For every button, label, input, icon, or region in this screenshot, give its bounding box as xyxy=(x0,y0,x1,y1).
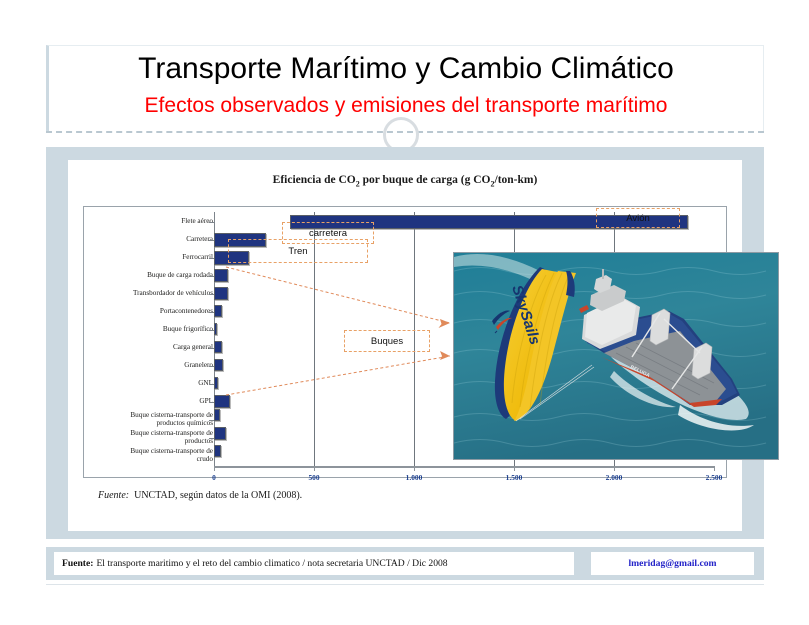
chart-source-note: Fuente: UNCTAD, según datos de la OMI (2… xyxy=(98,490,302,501)
chart-bar xyxy=(214,341,222,353)
content-panel: Eficiencia de CO2 por buque de carga (g … xyxy=(46,147,764,539)
x-tick-label: 1.500 xyxy=(506,473,523,482)
callout-buques[interactable]: Buques xyxy=(344,330,430,352)
footer-divider xyxy=(46,584,764,585)
footer-source-text: El transporte maritimo y el reto del cam… xyxy=(96,558,447,569)
callout-avion[interactable]: Avión xyxy=(596,208,680,228)
x-tick-label: 2.000 xyxy=(606,473,623,482)
chart-bar xyxy=(214,409,220,421)
footer-email[interactable]: lmeridag@gmail.com xyxy=(591,552,754,575)
chart-bar xyxy=(214,395,230,408)
x-tick-label: 500 xyxy=(308,473,319,482)
chart-bar xyxy=(214,323,217,335)
chart-bar xyxy=(214,269,228,282)
chart-source-text: UNCTAD, según datos de la OMI (2008). xyxy=(134,490,302,501)
x-tick-label: 1.000 xyxy=(406,473,423,482)
page-subtitle: Efectos observados y emisiones del trans… xyxy=(49,94,763,118)
chart-bar xyxy=(214,359,223,371)
page-title: Transporte Marítimo y Cambio Climático xyxy=(49,52,763,86)
chart-title: Eficiencia de CO2 por buque de carga (g … xyxy=(68,174,742,188)
slide: Transporte Marítimo y Cambio Climático E… xyxy=(0,0,809,625)
y-label: Buque cisterna-transporte de productos q… xyxy=(121,412,213,427)
x-tick xyxy=(714,466,715,471)
x-tick-label: 0 xyxy=(212,473,216,482)
chart-bar xyxy=(214,427,226,440)
x-tick xyxy=(614,466,615,471)
x-tick xyxy=(514,466,515,471)
y-tick xyxy=(209,222,214,223)
y-label: Buque frigorífico xyxy=(163,326,213,334)
y-label: Buque cisterna-transporte de crudo xyxy=(121,448,213,463)
chart-y-axis-labels: Flete aéreo Carretera Ferrocarril Buque … xyxy=(84,208,213,476)
y-label: Transbordador de vehículos xyxy=(133,290,213,298)
chart-x-axis xyxy=(214,466,714,468)
y-label: Portacontenedores xyxy=(160,308,213,316)
callout-tren[interactable]: Tren xyxy=(228,239,368,263)
y-label: Buque de carga rodada xyxy=(147,272,213,280)
chart-source-label: Fuente: xyxy=(98,490,129,501)
ship-illustration: SkySails xyxy=(454,253,778,459)
chart-container: Eficiencia de CO2 por buque de carga (g … xyxy=(68,160,742,531)
footer-source-label: Fuente: xyxy=(62,558,93,569)
x-tick xyxy=(314,466,315,471)
slide-footer: Fuente: El transporte maritimo y el reto… xyxy=(46,547,764,580)
chart-bar xyxy=(214,287,228,300)
chart-bar xyxy=(214,305,222,317)
x-tick-label: 2.500 xyxy=(706,473,723,482)
chart-bar xyxy=(214,377,218,389)
x-tick xyxy=(414,466,415,471)
skysails-ship-photo: SkySails xyxy=(453,252,779,460)
footer-source: Fuente: El transporte maritimo y el reto… xyxy=(54,552,574,575)
y-label: Carga general xyxy=(173,344,213,352)
chart-bar xyxy=(214,445,221,457)
chart-title-text: Eficiencia de CO2 por buque de carga (g … xyxy=(273,174,538,186)
y-label: Buque cisterna-transporte de productos xyxy=(121,430,213,445)
x-tick xyxy=(214,466,215,471)
